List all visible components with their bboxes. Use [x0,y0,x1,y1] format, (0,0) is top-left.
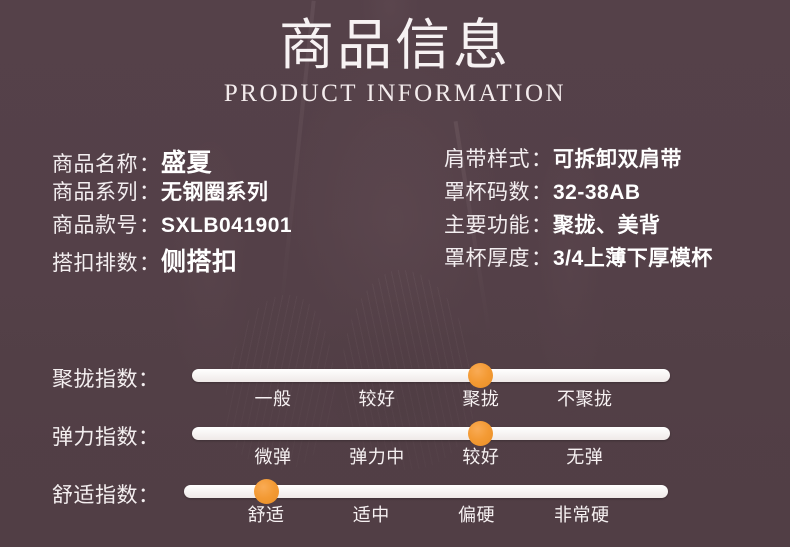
spec-colon: ： [530,176,553,206]
spec-colon: ： [138,247,161,277]
slider-row: 聚拢指数：一般较好聚拢不聚拢 [0,358,790,416]
spec-label: 商品系列 [52,176,138,206]
slider-row: 舒适指数：舒适适中偏硬非常硬 [0,474,790,532]
spec-label: 主要功能 [444,209,530,239]
spec-row: 搭扣排数：侧搭扣 [52,242,444,275]
slider-tick-label[interactable]: 适中 [353,501,390,527]
spec-row: 肩带样式：可拆卸双肩带 [444,143,790,176]
spec-row: 商品名称：盛夏 [52,143,444,176]
slider-tick-label[interactable]: 不聚拢 [557,385,613,411]
spec-value: 侧搭扣 [161,242,238,278]
product-information-page: 商品信息 PRODUCT INFORMATION 商品名称：盛夏商品系列：无钢圈… [0,0,790,547]
spec-label: 肩带样式 [444,143,530,173]
spec-column-left: 商品名称：盛夏商品系列：无钢圈系列商品款号：SXLB041901搭扣排数：侧搭扣 [52,143,444,275]
spec-colon: ： [138,148,161,178]
spec-value: 3/4上薄下厚模杯 [553,242,713,272]
slider-tick-label[interactable]: 弹力中 [349,443,405,469]
slider-tick-label[interactable]: 舒适 [248,501,285,527]
index-slider-group: 聚拢指数：一般较好聚拢不聚拢弹力指数：微弹弹力中较好无弹舒适指数：舒适适中偏硬非… [0,358,790,532]
spec-colon: ： [138,209,161,239]
spec-row: 罩杯码数：32-38AB [444,176,790,209]
slider-tick-labels: 微弹弹力中较好无弹 [0,443,790,471]
spec-value: 聚拢、美背 [553,209,661,239]
slider-tick-label[interactable]: 偏硬 [458,501,495,527]
slider-tick-label[interactable]: 非常硬 [554,501,610,527]
slider-track[interactable] [192,369,670,382]
spec-row: 主要功能：聚拢、美背 [444,209,790,242]
spec-label: 搭扣排数 [52,247,138,277]
spec-label: 罩杯码数 [444,176,530,206]
spec-colon: ： [138,176,161,206]
spec-label: 商品款号 [52,209,138,239]
slider-tick-labels: 舒适适中偏硬非常硬 [0,501,790,529]
spec-column-right: 肩带样式：可拆卸双肩带罩杯码数：32-38AB主要功能：聚拢、美背罩杯厚度：3/… [444,143,790,275]
slider-tick-label[interactable]: 聚拢 [462,385,499,411]
spec-label: 商品名称 [52,148,138,178]
slider-tick-label[interactable]: 较好 [358,385,395,411]
slider-track[interactable] [192,427,670,440]
spec-colon: ： [530,242,553,272]
spec-value: 盛夏 [161,143,212,179]
spec-row: 商品系列：无钢圈系列 [52,176,444,209]
page-subtitle: PRODUCT INFORMATION [0,80,790,108]
spec-row: 商品款号：SXLB041901 [52,209,444,242]
slider-tick-label[interactable]: 较好 [462,443,499,469]
spec-colon: ： [530,209,553,239]
spec-label: 罩杯厚度 [444,242,530,272]
page-header: 商品信息 PRODUCT INFORMATION [0,14,790,108]
slider-tick-label[interactable]: 微弹 [255,443,292,469]
slider-tick-labels: 一般较好聚拢不聚拢 [0,385,790,413]
slider-tick-label[interactable]: 无弹 [566,443,603,469]
slider-row: 弹力指数：微弹弹力中较好无弹 [0,416,790,474]
slider-tick-label[interactable]: 一般 [255,385,292,411]
spec-value: 32-38AB [553,181,641,205]
spec-value: 可拆卸双肩带 [553,143,682,173]
page-title: 商品信息 [0,14,790,76]
spec-row: 罩杯厚度：3/4上薄下厚模杯 [444,242,790,275]
spec-table: 商品名称：盛夏商品系列：无钢圈系列商品款号：SXLB041901搭扣排数：侧搭扣… [0,143,790,275]
spec-value: SXLB041901 [161,214,292,238]
spec-value: 无钢圈系列 [161,176,269,206]
spec-colon: ： [530,143,553,173]
